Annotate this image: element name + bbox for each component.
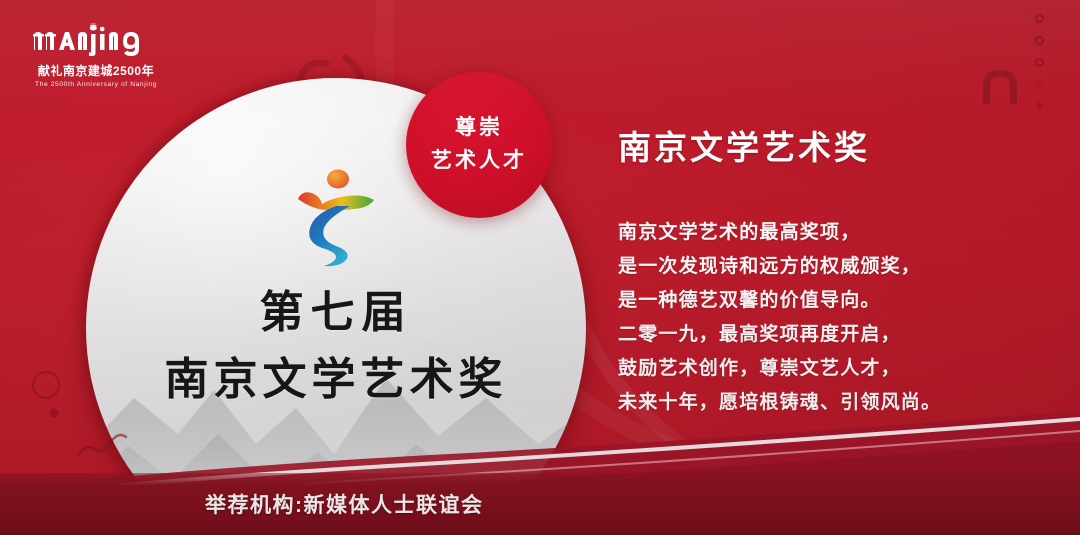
dancing-figure-emblem-icon xyxy=(288,166,384,270)
disc-text-block: 第七届 南京文学艺术奖 xyxy=(86,288,586,405)
disc-edition: 第七届 xyxy=(86,288,586,339)
description-line: 是一种德艺双馨的价值导向。 xyxy=(618,284,1018,318)
footer-band xyxy=(0,473,1080,535)
award-description: 南京文学艺术的最高奖项， 是一次发现诗和远方的权威颁奖， 是一种德艺双馨的价值导… xyxy=(618,216,1018,420)
badge-line-1: 尊崇 xyxy=(455,112,503,145)
award-headline: 南京文学艺术奖 xyxy=(618,128,1018,168)
poster-canvas: 献礼南京建城2500年 The 2500th Anniversary of Na… xyxy=(0,0,1080,535)
description-column: 南京文学艺术奖 南京文学艺术的最高奖项， 是一次发现诗和远方的权威颁奖， 是一种… xyxy=(618,128,1018,420)
disc-award-name: 南京文学艺术奖 xyxy=(86,355,586,406)
recommending-organization: 举荐机构:新媒体人士联谊会 xyxy=(205,489,484,519)
description-line: 是一次发现诗和远方的权威颁奖， xyxy=(618,250,1018,284)
description-line: 二零一九，最高奖项再度开启， xyxy=(618,318,1018,352)
badge-line-2: 艺术人才 xyxy=(431,145,527,178)
description-line: 南京文学艺术的最高奖项， xyxy=(618,216,1018,250)
description-line: 鼓励艺术创作，尊崇文艺人才， xyxy=(618,352,1018,386)
decor-ring xyxy=(1035,58,1044,67)
decor-ring-small xyxy=(1037,80,1043,86)
nanjing-wordmark-icon xyxy=(31,20,161,58)
decor-plus-icon: + xyxy=(1036,99,1044,112)
decor-ring xyxy=(1035,36,1044,45)
decor-ring xyxy=(1035,14,1044,23)
logo-subtitle: 献礼南京建城2500年 xyxy=(26,62,166,79)
n-monogram-icon xyxy=(978,66,1022,106)
description-line: 未来十年，愿培根铸魂、引领风尚。 xyxy=(618,386,1018,420)
decor-dots-vertical: + xyxy=(1035,14,1044,112)
honor-badge: 尊崇 艺术人才 xyxy=(406,72,552,218)
